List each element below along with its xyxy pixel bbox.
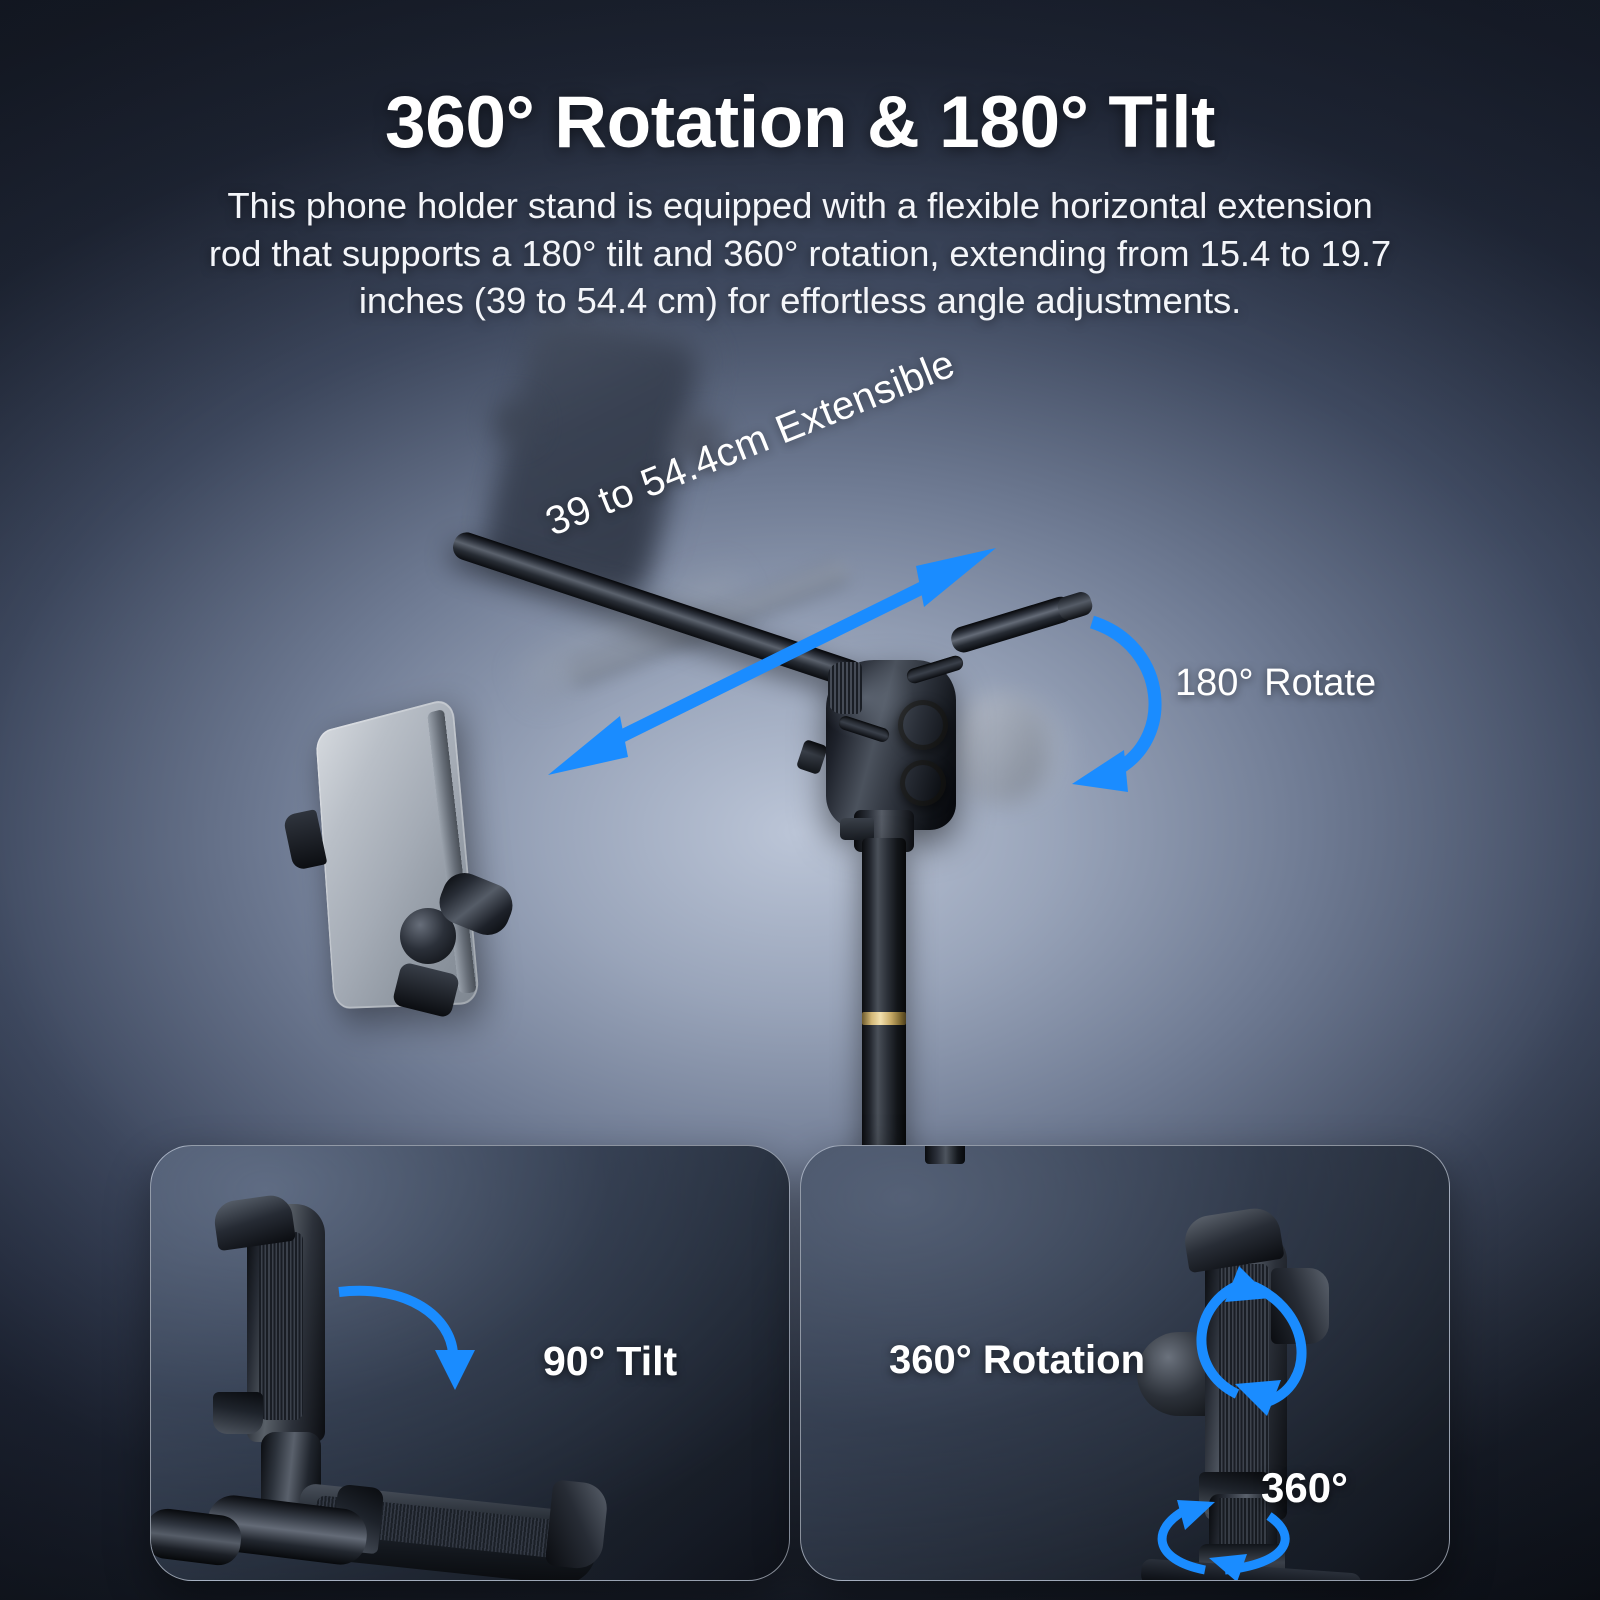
panel-rotation-secondary-label: 360°	[1261, 1464, 1348, 1512]
extension-rod-end-cap	[1055, 590, 1095, 623]
curved-tilt-arrow-icon	[339, 1291, 475, 1390]
gold-adjustment-knob-upper	[898, 700, 948, 750]
motion-blur-clamp-ghost-right	[672, 416, 726, 466]
panel-tilt-label: 90° Tilt	[543, 1338, 677, 1385]
pole-gold-band	[862, 1012, 906, 1025]
extension-rod-left	[450, 529, 867, 691]
gold-adjustment-knob-lower	[900, 760, 946, 806]
header: 360° Rotation & 180° Tilt This phone hol…	[0, 0, 1600, 324]
panel-rotation-label: 360° Rotation	[889, 1338, 1145, 1383]
hub-knurled-ring	[828, 662, 862, 714]
vertical-pole	[862, 838, 906, 1168]
page-title: 360° Rotation & 180° Tilt	[0, 86, 1600, 160]
feature-panels: 90° Tilt	[0, 1145, 1600, 1585]
vertical-loop-arrow-icon	[1201, 1266, 1301, 1416]
motion-blur-clamp-ghost-left	[492, 400, 536, 444]
motion-blur-head-ghost	[952, 694, 1048, 804]
horizontal-spin-arrow-icon	[1162, 1500, 1285, 1581]
page-subtitle: This phone holder stand is equipped with…	[205, 182, 1395, 323]
tilt-arrow-svg	[151, 1146, 790, 1581]
pole-collar-lever	[840, 818, 874, 840]
panel-360-rotation[interactable]: 360° Rotation 360°	[800, 1145, 1450, 1581]
extension-rod-band	[796, 739, 828, 775]
infographic-stage: 39 to 54.4cm Extensible 180° Rotate	[0, 0, 1600, 1600]
panel-90-tilt[interactable]: 90° Tilt	[150, 1145, 790, 1581]
